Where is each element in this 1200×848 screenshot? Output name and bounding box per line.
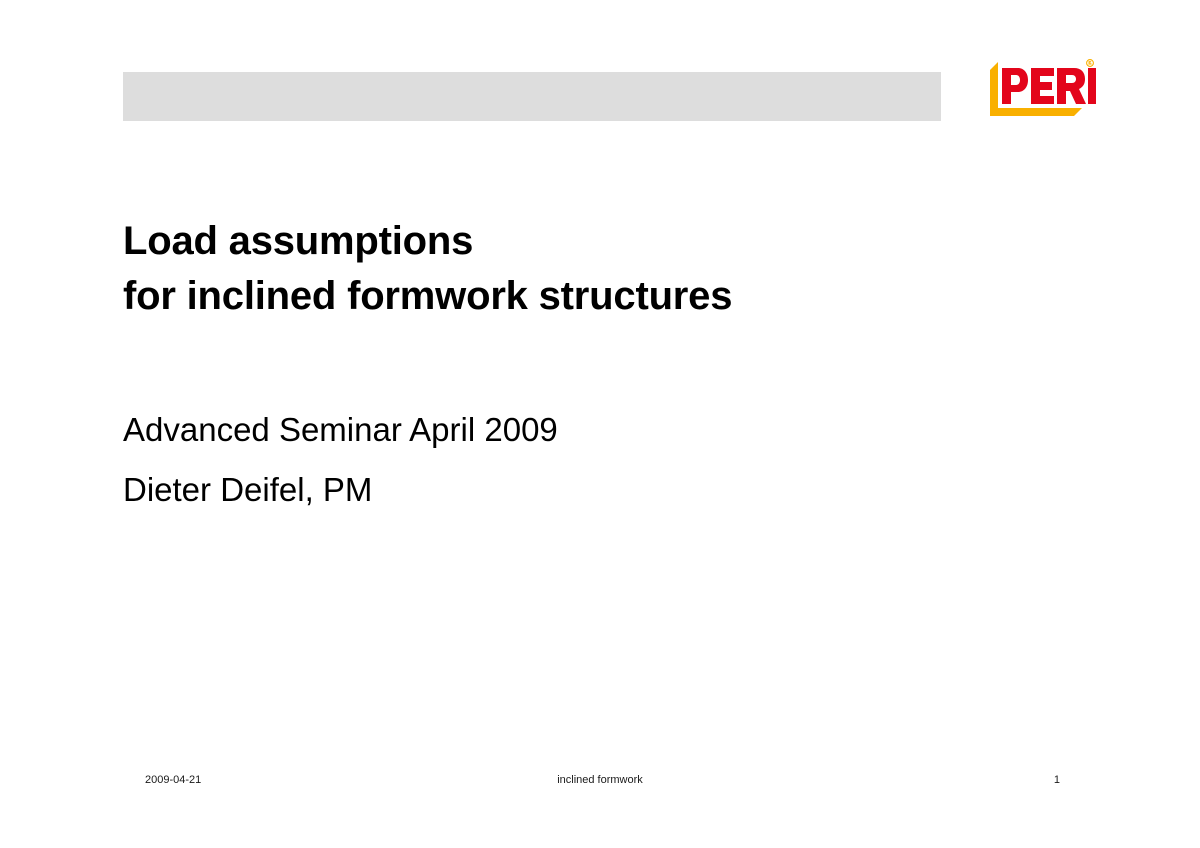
slide-footer: 2009-04-21 inclined formwork 1: [0, 774, 1200, 794]
presentation-slide: Load assumptions for inclined formwork s…: [0, 0, 1200, 848]
slide-title: Load assumptions for inclined formwork s…: [123, 214, 983, 324]
footer-page-number: 1: [1020, 774, 1060, 786]
subtitle-event: Advanced Seminar April 2009: [123, 400, 983, 460]
registered-trademark-icon: [1087, 60, 1094, 67]
slide-subtitle: Advanced Seminar April 2009 Dieter Deife…: [123, 400, 983, 520]
logo-wordmark-shape: [1002, 68, 1096, 104]
subtitle-author: Dieter Deifel, PM: [123, 460, 983, 520]
peri-logo: [984, 58, 1096, 120]
title-line-1: Load assumptions: [123, 214, 983, 269]
header-band: [123, 72, 941, 121]
title-line-2: for inclined formwork structures: [123, 269, 983, 324]
